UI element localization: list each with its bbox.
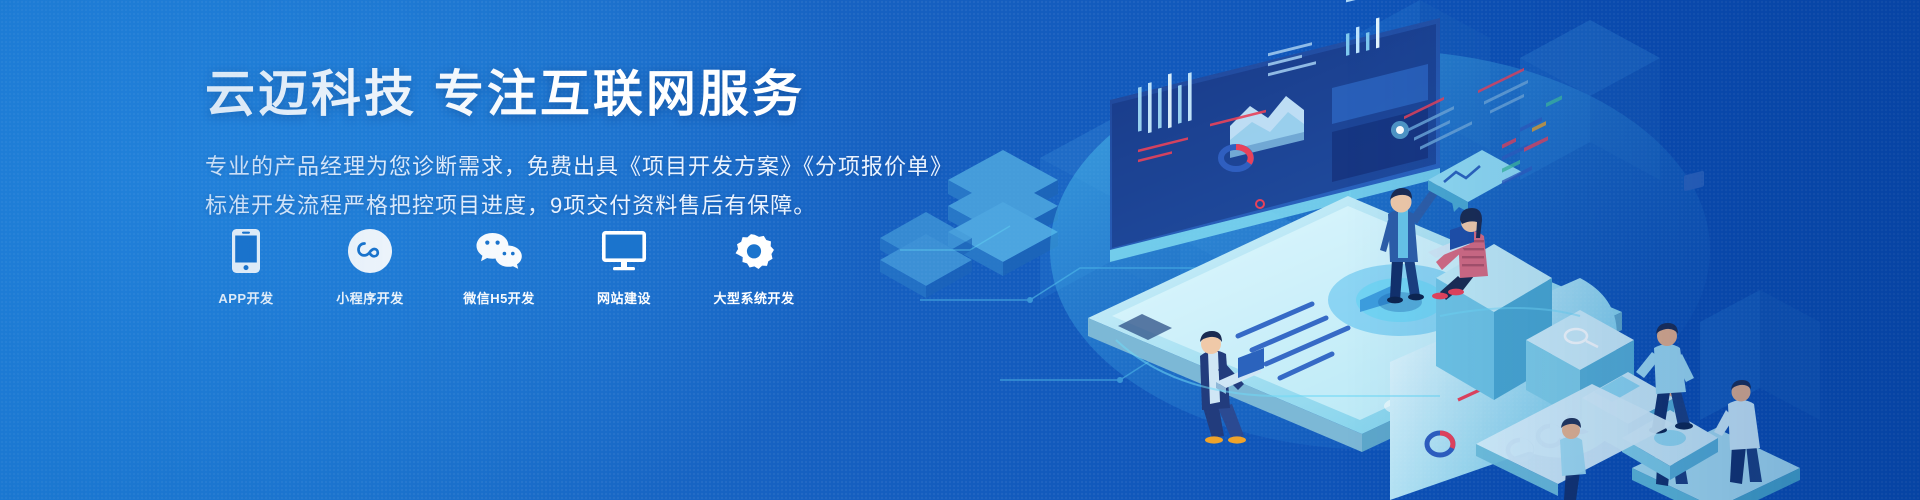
monitor-icon xyxy=(602,228,646,274)
service-item-website[interactable]: 网站建设 xyxy=(583,228,665,307)
service-label: APP开发 xyxy=(218,288,273,307)
service-label: 微信H5开发 xyxy=(463,288,535,307)
mobile-phone-icon xyxy=(232,228,260,274)
service-item-miniprogram[interactable]: 小程序开发 xyxy=(325,228,415,307)
isometric-illustration xyxy=(880,0,1920,500)
service-item-large-system[interactable]: 大型系统开发 xyxy=(703,228,805,307)
service-list: APP开发 小程序开发 微信 xyxy=(205,228,805,307)
subtitle-block: 专业的产品经理为您诊断需求，免费出具《项目开发方案》《分项报价单》 标准开发流程… xyxy=(205,148,905,225)
page-title: 云迈科技 专注互联网服务 xyxy=(205,66,905,122)
gear-icon xyxy=(733,228,775,274)
service-label: 网站建设 xyxy=(597,288,651,307)
service-item-wechat-h5[interactable]: 微信H5开发 xyxy=(453,228,545,307)
subtitle-line-1: 专业的产品经理为您诊断需求，免费出具《项目开发方案》《分项报价单》 xyxy=(205,148,905,187)
headline-block: 云迈科技 专注互联网服务 专业的产品经理为您诊断需求，免费出具《项目开发方案》《… xyxy=(205,66,905,225)
promo-banner: 云迈科技 专注互联网服务 专业的产品经理为您诊断需求，免费出具《项目开发方案》《… xyxy=(0,0,1920,500)
service-label: 大型系统开发 xyxy=(713,288,794,307)
stacked-plates xyxy=(880,150,1058,298)
service-item-app[interactable]: APP开发 xyxy=(205,228,287,307)
subtitle-line-2: 标准开发流程严格把控项目进度，9项交付资料售后有保障。 xyxy=(205,187,905,226)
service-label: 小程序开发 xyxy=(336,288,404,307)
mini-program-icon xyxy=(348,228,392,274)
wechat-icon xyxy=(475,228,523,274)
